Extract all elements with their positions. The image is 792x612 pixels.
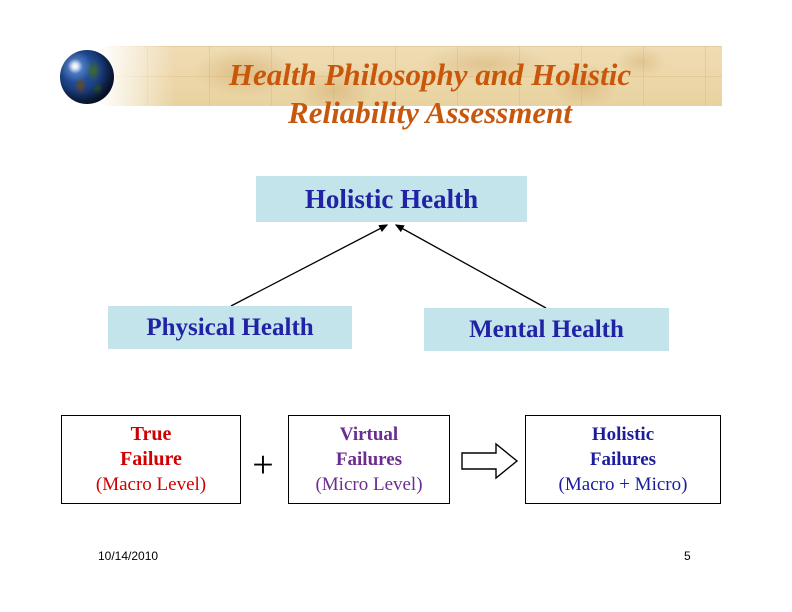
node-holistic-failures-line-2: Failures xyxy=(590,447,656,472)
node-physical-health[interactable]: Physical Health xyxy=(108,306,352,349)
page-title-line-1: Health Philosophy and Holistic xyxy=(130,56,730,94)
node-holistic-health[interactable]: Holistic Health xyxy=(256,176,527,222)
node-true-failure-line-2: Failure xyxy=(120,447,182,472)
node-virtual-failures-line-3: (Micro Level) xyxy=(315,472,422,497)
node-holistic-failures-line-1: Holistic xyxy=(592,422,654,447)
node-holistic-failures-line-3: (Macro + Micro) xyxy=(559,472,688,497)
node-mental-health-label: Mental Health xyxy=(469,316,624,344)
node-true-failure-line-3: (Macro Level) xyxy=(96,472,206,497)
node-virtual-failures-line-1: Virtual xyxy=(340,422,398,447)
node-virtual-failures-line-2: Failures xyxy=(336,447,402,472)
node-holistic-health-label: Holistic Health xyxy=(305,184,478,215)
slide-canvas: Health Philosophy and Holistic Reliabili… xyxy=(0,0,792,612)
block-arrow-right-shape xyxy=(462,444,517,478)
node-mental-health[interactable]: Mental Health xyxy=(424,308,669,351)
node-physical-health-label: Physical Health xyxy=(146,314,313,342)
plus-operator-label: + xyxy=(252,446,273,484)
connector-physical-to-holistic xyxy=(231,225,387,306)
footer-date: 10/14/2010 xyxy=(98,549,158,563)
globe-icon xyxy=(60,50,114,104)
plus-operator-icon: + xyxy=(246,446,280,484)
node-true-failure[interactable]: True Failure (Macro Level) xyxy=(61,415,241,504)
page-title-line-2: Reliability Assessment xyxy=(130,94,730,132)
node-virtual-failures[interactable]: Virtual Failures (Micro Level) xyxy=(288,415,450,504)
node-holistic-failures[interactable]: Holistic Failures (Macro + Micro) xyxy=(525,415,721,504)
block-arrow-right-icon xyxy=(460,441,520,481)
footer-page-number: 5 xyxy=(684,549,691,563)
node-true-failure-line-1: True xyxy=(131,422,172,447)
connector-mental-to-holistic xyxy=(396,225,546,308)
page-title: Health Philosophy and Holistic Reliabili… xyxy=(130,56,730,132)
